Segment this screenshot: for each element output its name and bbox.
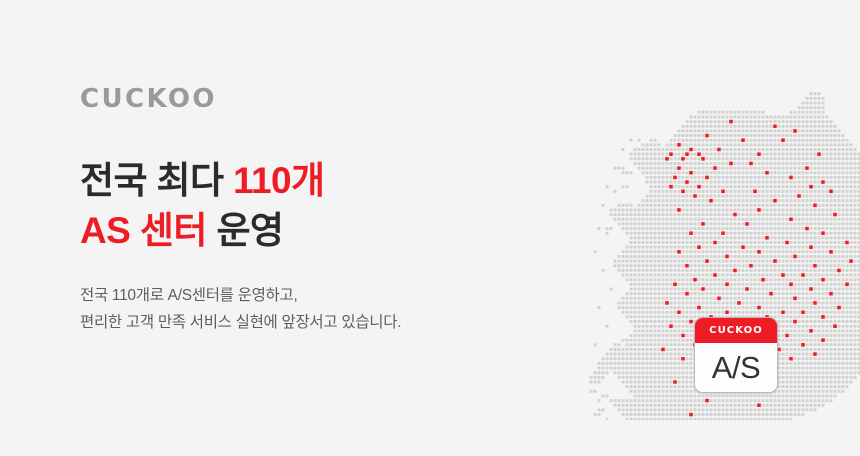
cuckoo-as-center-banner: CUCKOO 전국 최다 110개 AS 센터 운영 전국 110개로 A/S센… (0, 0, 860, 456)
as-badge-service-label: A/S (712, 352, 760, 383)
as-badge-body: A/S (695, 343, 777, 392)
subtitle-line-1: 전국 110개로 A/S센터를 운영하고, (80, 282, 540, 309)
headline-line-2: AS 센터 운영 (80, 206, 540, 256)
as-service-badge: CUCKOO A/S (694, 317, 778, 393)
banner-text-column: CUCKOO 전국 최다 110개 AS 센터 운영 전국 110개로 A/S센… (80, 86, 540, 336)
headline-line2-dark-text: 운영 (207, 210, 284, 251)
headline-line2-accent-text: AS 센터 (80, 210, 207, 251)
headline-line1-dark-text: 전국 최다 (80, 160, 233, 201)
as-badge-header: CUCKOO (695, 318, 777, 343)
headline-line-1: 전국 최다 110개 (80, 156, 540, 206)
page-title: 전국 최다 110개 AS 센터 운영 (80, 156, 540, 255)
subtitle-line-2: 편리한 고객 만족 서비스 실현에 앞장서고 있습니다. (80, 309, 540, 336)
cuckoo-logo: CUCKOO (80, 86, 540, 112)
headline-line1-accent-text: 110개 (233, 160, 324, 201)
as-badge-brand-label: CUCKOO (709, 325, 763, 336)
subtitle: 전국 110개로 A/S센터를 운영하고, 편리한 고객 만족 서비스 실현에 … (80, 282, 540, 336)
